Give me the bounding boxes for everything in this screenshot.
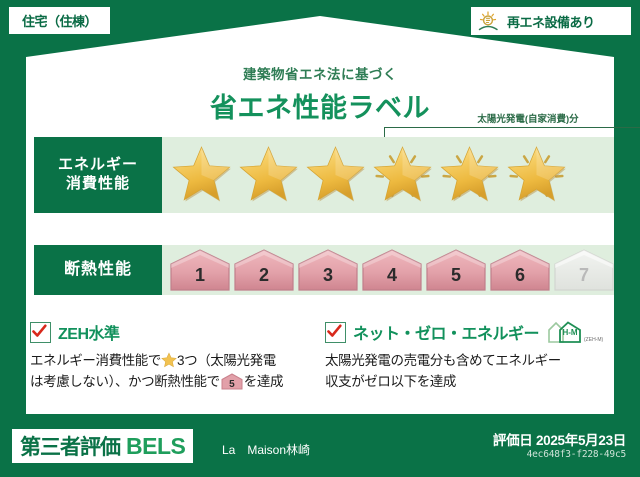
star-icon [161, 352, 177, 368]
bels-certification-badge: 第三者評価 BELS [12, 429, 193, 463]
evaluation-date-label: 評価日 [493, 433, 533, 448]
energy-label-line2: 消費性能 [66, 175, 130, 194]
house-type-tag: 住宅（住棟） [9, 7, 110, 34]
solar-share-bracket [384, 127, 640, 137]
renewable-equipment-label: 再エネ設備あり [507, 12, 595, 31]
zeh-body-part1: エネルギー消費性能で [30, 353, 161, 368]
grade-number: 1 [195, 265, 205, 292]
zeh-standard-body: エネルギー消費性能で3つ（太陽光発電 は考慮しない）、かつ断熱性能で5を達成 [30, 351, 310, 393]
grade-number: 6 [515, 265, 525, 292]
insulation-grade-badge: 1 [168, 248, 232, 292]
evaluation-date: 評価日 2025年5月23日 [493, 429, 626, 449]
insulation-grade-scale: 1 2 3 [162, 245, 614, 295]
red-check-icon [30, 322, 51, 343]
grade-number: 4 [387, 265, 397, 292]
energy-performance-label: 住宅（住棟） 再エネ設備あり 建築物省エネ法に基づく 省エネ性能ラベル [0, 0, 640, 477]
evaluation-id: 4ec648f3-f228-49c5 [527, 449, 626, 460]
label-footer: 第三者評価 BELS La Maison林崎 評価日 2025年5月23日 4e… [0, 417, 640, 477]
star-rating [162, 137, 614, 213]
energy-performance-row-label: エネルギー 消費性能 [34, 137, 162, 213]
sun-solar-icon [477, 10, 503, 32]
energy-performance-row-body: 太陽光発電(自家消費)分 [162, 137, 614, 213]
bels-jp-label: 第三者評価 [20, 431, 120, 461]
star-icon [168, 144, 235, 206]
net-zero-body-line1: 太陽光発電の売電分も含めてエネルギー [325, 353, 561, 368]
grade-number: 2 [259, 265, 269, 292]
insulation-grade-badge-inactive: 7 [552, 248, 616, 292]
star-icon-solar [503, 144, 570, 206]
zeh-standard-heading: ZEH水準 [30, 320, 310, 344]
zeh-m-logo-caption: (ZEH-M) [584, 337, 603, 343]
building-name: La Maison林崎 [222, 441, 310, 458]
insulation-grade-badge: 2 [232, 248, 296, 292]
energy-performance-row: エネルギー 消費性能 太陽光発電(自家消費)分 [34, 137, 614, 213]
grade-number: 7 [579, 265, 589, 292]
zeh-body-line2-part1: は考慮しない）、かつ断熱性能で [30, 374, 220, 389]
red-check-icon [325, 322, 346, 343]
svg-text:H-M: H-M [562, 328, 577, 337]
net-zero-energy-heading: ネット・ゼロ・エネルギー H-M (ZEH-M) [325, 320, 605, 344]
star-icon [235, 144, 302, 206]
grade-number: 3 [323, 265, 333, 292]
zeh-m-logo-icon: H-M (ZEH-M) [547, 319, 603, 345]
insulation-performance-row-label: 断熱性能 [34, 245, 162, 295]
net-zero-energy-section: ネット・ゼロ・エネルギー H-M (ZEH-M) 太陽光発電の売電分も含めてエネ… [325, 320, 605, 393]
zeh-body-line2-part2: を達成 [244, 374, 283, 389]
inline-grade-badge: 5 [221, 373, 243, 390]
bels-en-label: BELS [126, 433, 185, 460]
zeh-standard-section: ZEH水準 エネルギー消費性能で3つ（太陽光発電 は考慮しない）、かつ断熱性能で… [30, 320, 310, 393]
star-icon [302, 144, 369, 206]
insulation-performance-row: 断熱性能 1 2 [34, 245, 614, 295]
zeh-standard-title: ZEH水準 [58, 320, 120, 344]
insulation-grade-badge: 3 [296, 248, 360, 292]
insulation-label: 断熱性能 [64, 260, 132, 280]
net-zero-energy-title: ネット・ゼロ・エネルギー [353, 320, 539, 344]
label-subtitle: 建築物省エネ法に基づく [26, 63, 614, 83]
grade-number: 5 [451, 265, 461, 292]
insulation-performance-row-body: 1 2 3 [162, 245, 614, 295]
insulation-grade-badge: 4 [360, 248, 424, 292]
star-icon-solar [369, 144, 436, 206]
house-type-tag-label: 住宅（住棟） [22, 11, 97, 30]
star-icon-solar [436, 144, 503, 206]
net-zero-body-line2: 収支がゼロ以下を達成 [325, 374, 456, 389]
zeh-body-part2: 3つ（太陽光発電 [177, 353, 276, 368]
net-zero-energy-body: 太陽光発電の売電分も含めてエネルギー 収支がゼロ以下を達成 [325, 351, 605, 393]
insulation-grade-badge: 6 [488, 248, 552, 292]
renewable-equipment-badge: 再エネ設備あり [471, 7, 631, 35]
inline-grade-number: 5 [221, 380, 243, 390]
insulation-grade-badge: 5 [424, 248, 488, 292]
solar-share-note: 太陽光発電(自家消費)分 [383, 111, 640, 125]
energy-label-line1: エネルギー [58, 156, 138, 175]
evaluation-date-value: 2025年5月23日 [536, 433, 626, 448]
